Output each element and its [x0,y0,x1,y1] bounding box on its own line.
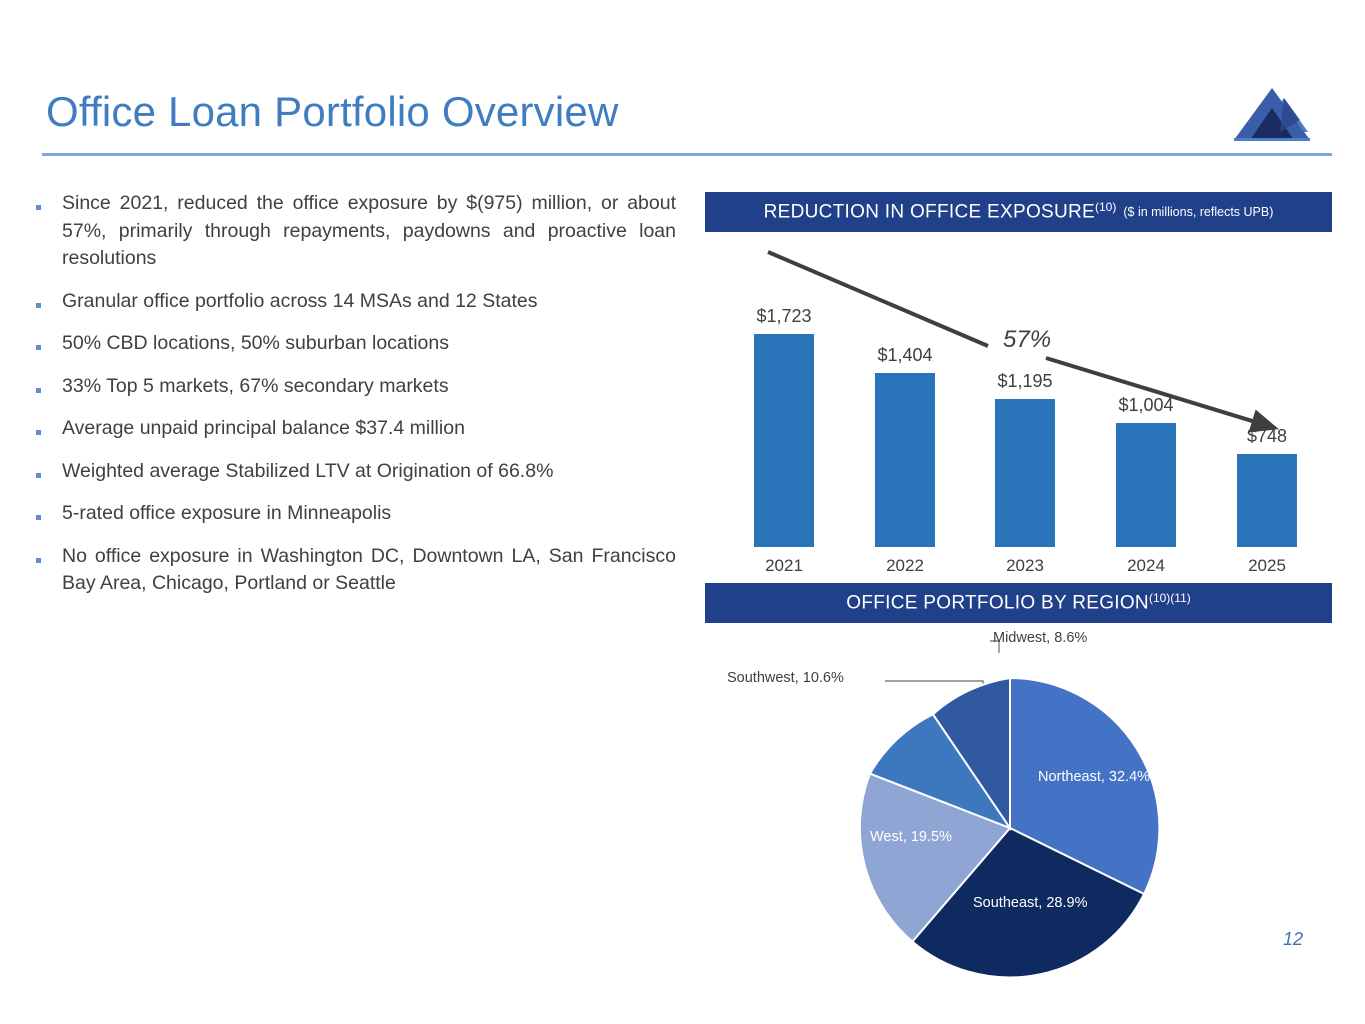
bar-value-label: $1,404 [851,345,959,366]
list-item: Since 2021, reduced the office exposure … [36,190,676,273]
key-highlights-list: Since 2021, reduced the office exposure … [36,190,676,613]
list-item-text: No office exposure in Washington DC, Dow… [62,543,676,598]
bar-group-2022: $1,404 2022 [851,345,959,576]
list-item: 5-rated office exposure in Minneapolis [36,500,676,528]
bar-chart-banner-note: ($ in millions, reflects UPB) [1123,205,1273,219]
bar-rect [754,334,814,547]
list-item: No office exposure in Washington DC, Dow… [36,543,676,598]
list-item-text: Granular office portfolio across 14 MSAs… [62,288,676,316]
footnote-marker: (10)(11) [1149,591,1191,605]
pie-label-southeast: Southeast, 28.9% [973,895,1087,911]
bullet-square-icon [36,458,62,480]
list-item: 50% CBD locations, 50% suburban location… [36,330,676,358]
bullet-square-icon [36,330,62,352]
bullet-square-icon [36,373,62,395]
bar-value-label: $1,004 [1092,395,1200,416]
reduction-in-office-exposure-panel: REDUCTION IN OFFICE EXPOSURE(10) ($ in m… [705,192,1332,232]
bar-value-label: $1,723 [730,306,838,327]
bar-chart-banner: REDUCTION IN OFFICE EXPOSURE(10) ($ in m… [705,192,1332,232]
bar-value-label: $748 [1213,426,1321,447]
pie-label-southwest: Southwest, 10.6% [727,670,844,686]
office-portfolio-by-region-chart: Northeast, 32.4% Southeast, 28.9% West, … [705,623,1332,993]
bar-group-2025: $748 2025 [1213,426,1321,576]
mountain-peaks-logo [1232,84,1332,146]
bar-group-2024: $1,004 2024 [1092,395,1200,576]
footnote-marker: (10) [1095,200,1116,214]
pie-label-midwest: Midwest, 8.6% [993,630,1087,646]
bar-category-label: 2025 [1213,556,1321,576]
bar-category-label: 2024 [1092,556,1200,576]
bullet-square-icon [36,415,62,437]
bar-rect [995,399,1055,547]
office-portfolio-by-region-panel: OFFICE PORTFOLIO BY REGION(10)(11) [705,583,1332,623]
bullet-square-icon [36,543,62,565]
bar-rect [1116,423,1176,547]
bar-group-2023: $1,195 2023 [971,371,1079,576]
bullet-square-icon [36,190,62,212]
list-item: Weighted average Stabilized LTV at Origi… [36,458,676,486]
bullet-square-icon [36,500,62,522]
list-item-text: 5-rated office exposure in Minneapolis [62,500,676,528]
page-number: 12 [1283,929,1303,950]
pie-label-west: West, 19.5% [870,829,952,845]
page-title: Office Loan Portfolio Overview [46,88,619,136]
bar-value-label: $1,195 [971,371,1079,392]
list-item-text: Since 2021, reduced the office exposure … [62,190,676,273]
list-item: Granular office portfolio across 14 MSAs… [36,288,676,316]
bullet-square-icon [36,288,62,310]
bar-chart-banner-title: REDUCTION IN OFFICE EXPOSURE(10) [764,200,1117,223]
bar-category-label: 2023 [971,556,1079,576]
bar-category-label: 2022 [851,556,959,576]
bar-rect [875,373,935,547]
pie-chart-banner: OFFICE PORTFOLIO BY REGION(10)(11) [705,583,1332,623]
list-item-text: 50% CBD locations, 50% suburban location… [62,330,676,358]
pie-label-northeast: Northeast, 32.4% [1038,769,1150,785]
pie-chart-banner-title: OFFICE PORTFOLIO BY REGION(10)(11) [846,591,1191,614]
list-item-text: Weighted average Stabilized LTV at Origi… [62,458,676,486]
list-item: 33% Top 5 markets, 67% secondary markets [36,373,676,401]
title-divider [42,153,1332,156]
bar-category-label: 2021 [730,556,838,576]
bar-rect [1237,454,1297,547]
list-item: Average unpaid principal balance $37.4 m… [36,415,676,443]
reduction-in-office-exposure-chart: 57% $1,723 2021 $1,404 2022 $1,195 2023 … [705,236,1332,576]
list-item-text: 33% Top 5 markets, 67% secondary markets [62,373,676,401]
bar-group-2021: $1,723 2021 [730,306,838,576]
list-item-text: Average unpaid principal balance $37.4 m… [62,415,676,443]
decline-percentage-label: 57% [1003,326,1051,354]
